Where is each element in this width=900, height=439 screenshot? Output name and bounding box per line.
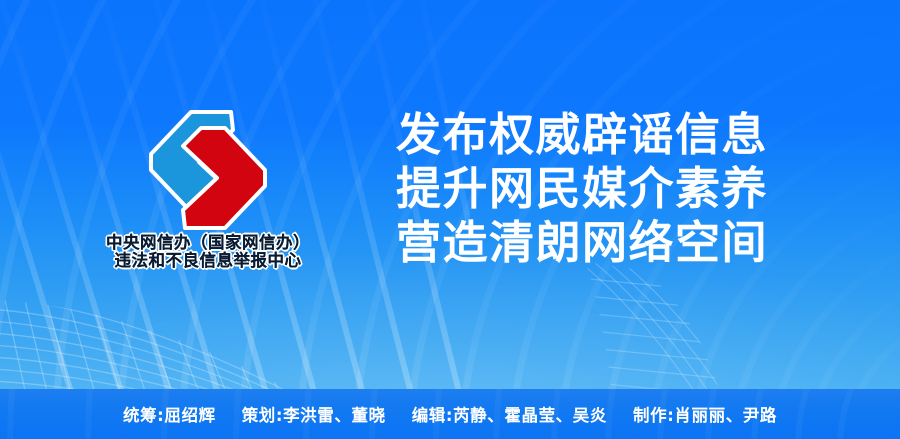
credits-text: 统筹:屈绍辉 策划:李洪雷、董晓 编辑:芮静、霍晶莹、吴炎 制作:肖丽丽、尹路 — [123, 402, 777, 426]
slogan-block: 发布权威辟谣信息 提升网民媒介素养 营造清朗网络空间 — [396, 108, 816, 270]
logo-block: 中央网信办（国家网信办） 违法和不良信息举报中心 — [62, 108, 354, 284]
slogan-line-3: 营造清朗网络空间 — [396, 216, 816, 270]
credit-item-coordinator: 统筹:屈绍辉 — [123, 402, 216, 426]
organization-name: 中央网信办（国家网信办） 违法和不良信息举报中心 — [62, 234, 354, 270]
credit-item-producer: 制作:肖丽丽、尹路 — [633, 402, 777, 426]
credits-bar: 统筹:屈绍辉 策划:李洪雷、董晓 编辑:芮静、霍晶莹、吴炎 制作:肖丽丽、尹路 — [0, 389, 900, 439]
organization-name-line2: 违法和不良信息举报中心 — [62, 252, 354, 270]
poster-canvas: 中央网信办（国家网信办） 违法和不良信息举报中心 发布权威辟谣信息 提升网民媒介… — [0, 0, 900, 439]
credit-item-planner: 策划:李洪雷、董晓 — [242, 402, 386, 426]
credit-item-editor: 编辑:芮静、霍晶莹、吴炎 — [412, 402, 607, 426]
slogan-line-1: 发布权威辟谣信息 — [396, 108, 816, 162]
slogan-line-2: 提升网民媒介素养 — [396, 162, 816, 216]
organization-name-line1: 中央网信办（国家网信办） — [62, 234, 354, 252]
cac-logo-icon — [143, 108, 273, 232]
